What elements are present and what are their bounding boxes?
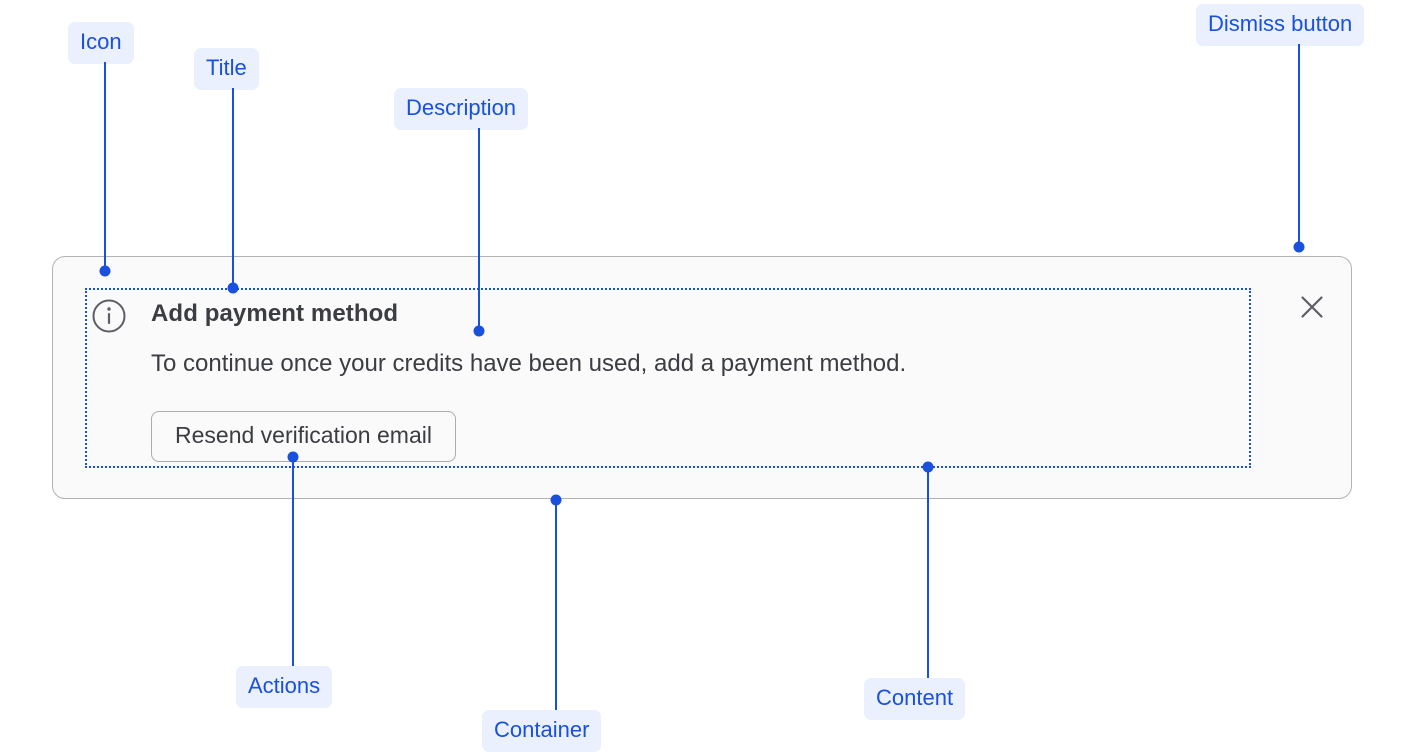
- annotation-label-dismiss: Dismiss button: [1196, 4, 1364, 46]
- alert-description: To continue once your credits have been …: [151, 350, 906, 378]
- annotation-label-container: Container: [482, 710, 601, 752]
- annotation-dot-dismiss: [1294, 242, 1305, 253]
- annotation-label-content: Content: [864, 678, 965, 720]
- annotation-label-title: Title: [194, 48, 259, 90]
- annotation-label-description: Description: [394, 88, 528, 130]
- alert-title: Add payment method: [151, 300, 398, 328]
- annotation-leader-title: [232, 88, 234, 288]
- resend-verification-email-button[interactable]: Resend verification email: [151, 411, 456, 462]
- annotation-dot-icon: [100, 266, 111, 277]
- annotation-leader-description: [478, 128, 480, 331]
- dismiss-button[interactable]: [1295, 290, 1329, 324]
- annotation-dot-description: [474, 326, 485, 337]
- annotation-leader-dismiss: [1298, 44, 1300, 247]
- annotation-label-icon: Icon: [68, 22, 134, 64]
- annotation-leader-icon: [104, 62, 106, 271]
- annotation-leader-actions: [292, 457, 294, 666]
- annotation-leader-content: [927, 467, 929, 678]
- annotation-label-actions: Actions: [236, 666, 332, 708]
- close-icon: [1299, 294, 1325, 320]
- annotation-dot-title: [228, 283, 239, 294]
- annotation-leader-container: [555, 500, 557, 710]
- alert-content-region: Add payment method To continue once your…: [85, 288, 1251, 468]
- alert-container: Add payment method To continue once your…: [52, 256, 1352, 499]
- alert-actions: Resend verification email: [151, 411, 456, 462]
- info-circle-icon: [91, 298, 127, 334]
